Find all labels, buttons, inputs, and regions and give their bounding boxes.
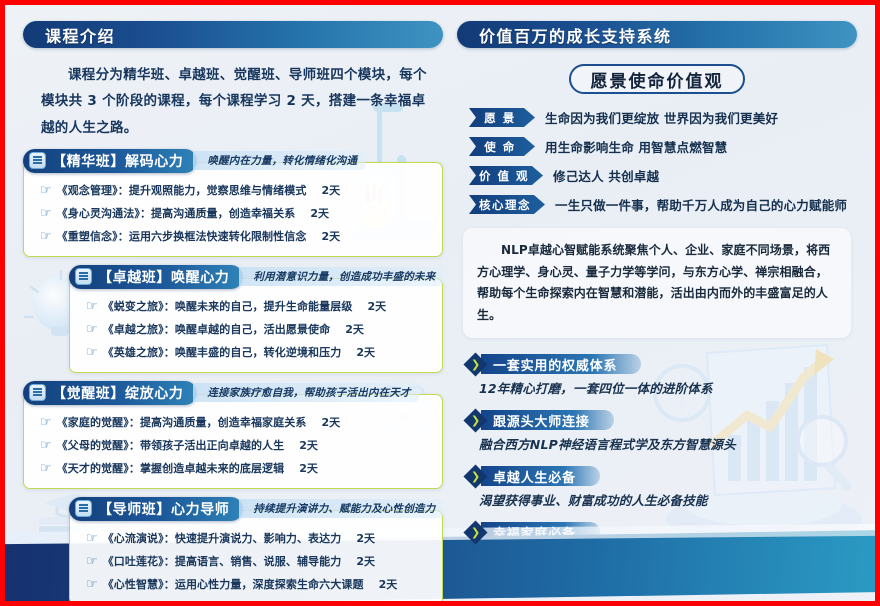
course-duration: 2天 — [356, 344, 375, 360]
nlp-description-text: NLP卓越心智赋能系统聚焦个人、企业、家庭不同场景，将西方心理学、身心灵、量子力… — [477, 240, 837, 326]
feature-item-master-connection[interactable]: ❯ 跟源头大师连接 融合西方NLP神经语言程式学及东方智慧源头 — [467, 410, 857, 453]
list-item[interactable]: ☞ 《口吐莲花》：提高语言、销售、说服、辅导能力 2天 — [86, 550, 432, 573]
pointing-hand-icon: ☞ — [40, 184, 52, 197]
feature-description: 12年精心打磨，一套四位一体的进阶体系 — [467, 378, 857, 397]
feature-header: ❯ 一套实用的权威体系 — [467, 354, 857, 374]
course-duration: 2天 — [367, 298, 386, 314]
course-name: 《心流演说》：快速提升演说力、影响力、表达力 — [103, 530, 342, 546]
list-item[interactable]: ☞ 《天才的觉醒》：掌握创造卓越未来的底层逻辑 2天 — [40, 457, 432, 480]
feature-header: ❯ 卓越人生必备 — [467, 466, 857, 486]
course-duration: 2天 — [345, 321, 364, 337]
module-title: 【卓越班】唤醒心力 — [98, 267, 229, 287]
vm-text: 修己达人 共创卓越 — [553, 166, 659, 185]
list-item[interactable]: 核心理念 一生只做一件事，帮助千万人成为自己的心力赋能师 — [469, 195, 857, 214]
pointing-hand-icon: ☞ — [86, 300, 98, 313]
module-course-list: ☞ 《心流演说》：快速提升演说力、影响力、表达力 2天 ☞ 《口吐莲花》：提高语… — [69, 510, 443, 605]
list-item[interactable]: 使 命 用生命影响生命 用智慧点燃智慧 — [469, 137, 857, 156]
vision-mission-values-pill: 愿景使命价值观 — [569, 64, 745, 94]
vm-tag: 使 命 — [469, 137, 535, 156]
vm-tag: 核心理念 — [469, 195, 545, 214]
module-subtitle: 持续提升演讲力、赋能力及心性创造力 — [239, 499, 443, 518]
vision-mission-values-list: 愿 景 生命因为我们更绽放 世界因为我们更美好 使 命 用生命影响生命 用智慧点… — [457, 108, 857, 214]
course-name: 《心性智慧》：运用心性力量，深度探索生命六大课题 — [103, 576, 364, 592]
vm-text: 生命因为我们更绽放 世界因为我们更美好 — [545, 108, 778, 127]
module-title-pill: 【卓越班】唤醒心力 — [69, 265, 243, 289]
feature-description: 融合西方NLP神经语言程式学及东方智慧源头 — [467, 434, 857, 453]
pointing-hand-icon: ☞ — [86, 323, 98, 336]
pointing-hand-icon: ☞ — [86, 578, 98, 591]
list-item[interactable]: ☞ 《家庭的觉醒》：提高沟通质量，创造幸福家庭关系 2天 — [40, 411, 432, 434]
course-name: 《卓越之旅》：唤醒卓越的自己，活出愿景使命 — [103, 321, 331, 337]
pointing-hand-icon: ☞ — [40, 207, 52, 220]
course-duration: 2天 — [356, 530, 375, 546]
book-icon — [29, 152, 46, 169]
feature-item-authority-system[interactable]: ❯ 一套实用的权威体系 12年精心打磨，一套四位一体的进阶体系 — [467, 354, 857, 397]
module-title-pill: 【觉醒班】绽放心力 — [23, 381, 197, 405]
pointing-hand-icon: ☞ — [86, 555, 98, 568]
book-icon — [29, 384, 46, 401]
course-name: 《家庭的觉醒》：提高沟通质量，创造幸福家庭关系 — [57, 414, 307, 430]
module-course-list: ☞ 《家庭的觉醒》：提高沟通质量，创造幸福家庭关系 2天 ☞ 《父母的觉醒》：带… — [23, 394, 443, 489]
course-duration: 2天 — [310, 205, 329, 221]
pointing-hand-icon: ☞ — [86, 346, 98, 359]
left-section-title: 课程介绍 — [23, 23, 115, 47]
feature-label: 卓越人生必备 — [481, 466, 600, 486]
vm-text: 一生只做一件事，帮助千万人成为自己的心力赋能师 — [555, 195, 847, 214]
course-name: 《英雄之旅》：唤醒丰盛的自己，转化逆境和压力 — [103, 344, 342, 360]
list-item[interactable]: ☞ 《蜕变之旅》：唤醒未来的自己，提升生命能量层级 2天 — [86, 295, 432, 318]
module-course-list: ☞ 《蜕变之旅》：唤醒未来的自己，提升生命能量层级 2天 ☞ 《卓越之旅》：唤醒… — [69, 278, 443, 373]
module-subtitle: 利用潜意识力量，创造成功丰盛的未来 — [239, 267, 443, 286]
pointing-hand-icon: ☞ — [40, 416, 52, 429]
feature-label: 一套实用的权威体系 — [481, 354, 641, 374]
vm-tag: 愿 景 — [469, 108, 535, 127]
module-header: 【精华班】解码心力 唤醒内在力量，转化情绪化沟通 — [23, 149, 443, 173]
course-name: 《天才的觉醒》：掌握创造卓越未来的底层逻辑 — [57, 460, 285, 476]
course-intro-paragraph: 课程分为精华班、卓越班、觉醒班、导师班四个模块，每个模块共 3 个阶段的课程，每… — [23, 62, 443, 141]
feature-description: 渴望获得事业、财富成功的人生必备技能 — [467, 490, 857, 509]
course-module-essence[interactable]: 【精华班】解码心力 唤醒内在力量，转化情绪化沟通 ☞ 《观念管理》：提升观照能力… — [23, 149, 443, 257]
course-duration: 2天 — [321, 228, 340, 244]
course-duration: 2天 — [299, 460, 318, 476]
right-column: 价值百万的成长支持系统 愿景使命价值观 愿 景 生命因为我们更绽放 世界因为我们… — [457, 21, 857, 578]
pointing-hand-icon: ☞ — [40, 230, 52, 243]
module-title: 【觉醒班】绽放心力 — [52, 383, 183, 403]
course-module-awakening[interactable]: 【觉醒班】绽放心力 连接家族疗愈自我，帮助孩子活出内在天才 ☞ 《家庭的觉醒》：… — [23, 381, 443, 489]
book-icon — [75, 268, 92, 285]
nlp-description-box: NLP卓越心智赋能系统聚焦个人、企业、家庭不同场景，将西方心理学、身心灵、量子力… — [463, 228, 851, 338]
right-section-title: 价值百万的成长支持系统 — [457, 23, 672, 47]
course-duration: 2天 — [299, 437, 318, 453]
module-title: 【精华班】解码心力 — [52, 151, 183, 171]
pointing-hand-icon: ☞ — [40, 439, 52, 452]
left-section-header: 课程介绍 — [23, 21, 443, 48]
list-item[interactable]: ☞ 《心流演说》：快速提升演说力、影响力、表达力 2天 — [86, 527, 432, 550]
list-item[interactable]: ☞ 《英雄之旅》：唤醒丰盛的自己，转化逆境和压力 2天 — [86, 341, 432, 364]
poster-canvas: 课程介绍 课程分为精华班、卓越班、觉醒班、导师班四个模块，每个模块共 3 个阶段… — [0, 0, 880, 606]
module-title-pill: 【精华班】解码心力 — [23, 149, 197, 173]
list-item[interactable]: ☞ 《卓越之旅》：唤醒卓越的自己，活出愿景使命 2天 — [86, 318, 432, 341]
feature-header: ❯ 跟源头大师连接 — [467, 410, 857, 430]
course-duration: 2天 — [321, 182, 340, 198]
course-name: 《身心灵沟通法》：提高沟通质量，创造幸福关系 — [57, 205, 296, 221]
right-section-header: 价值百万的成长支持系统 — [457, 21, 857, 48]
list-item[interactable]: 愿 景 生命因为我们更绽放 世界因为我们更美好 — [469, 108, 857, 127]
course-duration: 2天 — [321, 414, 340, 430]
list-item[interactable]: ☞ 《身心灵沟通法》：提高沟通质量，创造幸福关系 2天 — [40, 202, 432, 225]
course-name: 《父母的觉醒》：带领孩子活出正向卓越的人生 — [57, 437, 285, 453]
module-title: 【导师班】心力导师 — [98, 499, 229, 519]
list-item[interactable]: 价 值 观 修己达人 共创卓越 — [469, 166, 857, 185]
course-module-mentor[interactable]: 【导师班】心力导师 持续提升演讲力、赋能力及心性创造力 ☞ 《心流演说》：快速提… — [69, 497, 443, 605]
list-item[interactable]: ☞ 《观念管理》：提升观照能力，觉察思维与情绪模式 2天 — [40, 179, 432, 202]
module-header: 【导师班】心力导师 持续提升演讲力、赋能力及心性创造力 — [69, 497, 443, 521]
list-item[interactable]: ☞ 《心性智慧》：运用心性力量，深度探索生命六大课题 2天 — [86, 573, 432, 596]
course-module-excellence[interactable]: 【卓越班】唤醒心力 利用潜意识力量，创造成功丰盛的未来 ☞ 《蜕变之旅》：唤醒未… — [69, 265, 443, 373]
module-header: 【觉醒班】绽放心力 连接家族疗愈自我，帮助孩子活出内在天才 — [23, 381, 443, 405]
module-subtitle: 连接家族疗愈自我，帮助孩子活出内在天才 — [193, 383, 418, 402]
pointing-hand-icon: ☞ — [86, 532, 98, 545]
course-name: 《口吐莲花》：提高语言、销售、说服、辅导能力 — [103, 553, 342, 569]
feature-item-excellent-life[interactable]: ❯ 卓越人生必备 渴望获得事业、财富成功的人生必备技能 — [467, 466, 857, 509]
course-duration: 2天 — [356, 553, 375, 569]
list-item[interactable]: ☞ 《重塑信念》：运用六步换框法快速转化限制性信念 2天 — [40, 225, 432, 248]
course-name: 《重塑信念》：运用六步换框法快速转化限制性信念 — [57, 228, 307, 244]
course-name: 《观念管理》：提升观照能力，觉察思维与情绪模式 — [57, 182, 307, 198]
course-name: 《蜕变之旅》：唤醒未来的自己，提升生命能量层级 — [103, 298, 353, 314]
course-duration: 2天 — [379, 576, 398, 592]
left-column: 课程介绍 课程分为精华班、卓越班、觉醒班、导师班四个模块，每个模块共 3 个阶段… — [23, 21, 443, 605]
pointing-hand-icon: ☞ — [40, 462, 52, 475]
module-course-list: ☞ 《观念管理》：提升观照能力，觉察思维与情绪模式 2天 ☞ 《身心灵沟通法》：… — [23, 162, 443, 257]
book-icon — [75, 500, 92, 517]
list-item[interactable]: ☞ 《父母的觉醒》：带领孩子活出正向卓越的人生 2天 — [40, 434, 432, 457]
module-title-pill: 【导师班】心力导师 — [69, 497, 243, 521]
vm-text: 用生命影响生命 用智慧点燃智慧 — [545, 137, 727, 156]
vm-tag: 价 值 观 — [469, 166, 543, 185]
module-header: 【卓越班】唤醒心力 利用潜意识力量，创造成功丰盛的未来 — [69, 265, 443, 289]
feature-label: 跟源头大师连接 — [481, 410, 614, 430]
module-subtitle: 唤醒内在力量，转化情绪化沟通 — [193, 151, 365, 170]
